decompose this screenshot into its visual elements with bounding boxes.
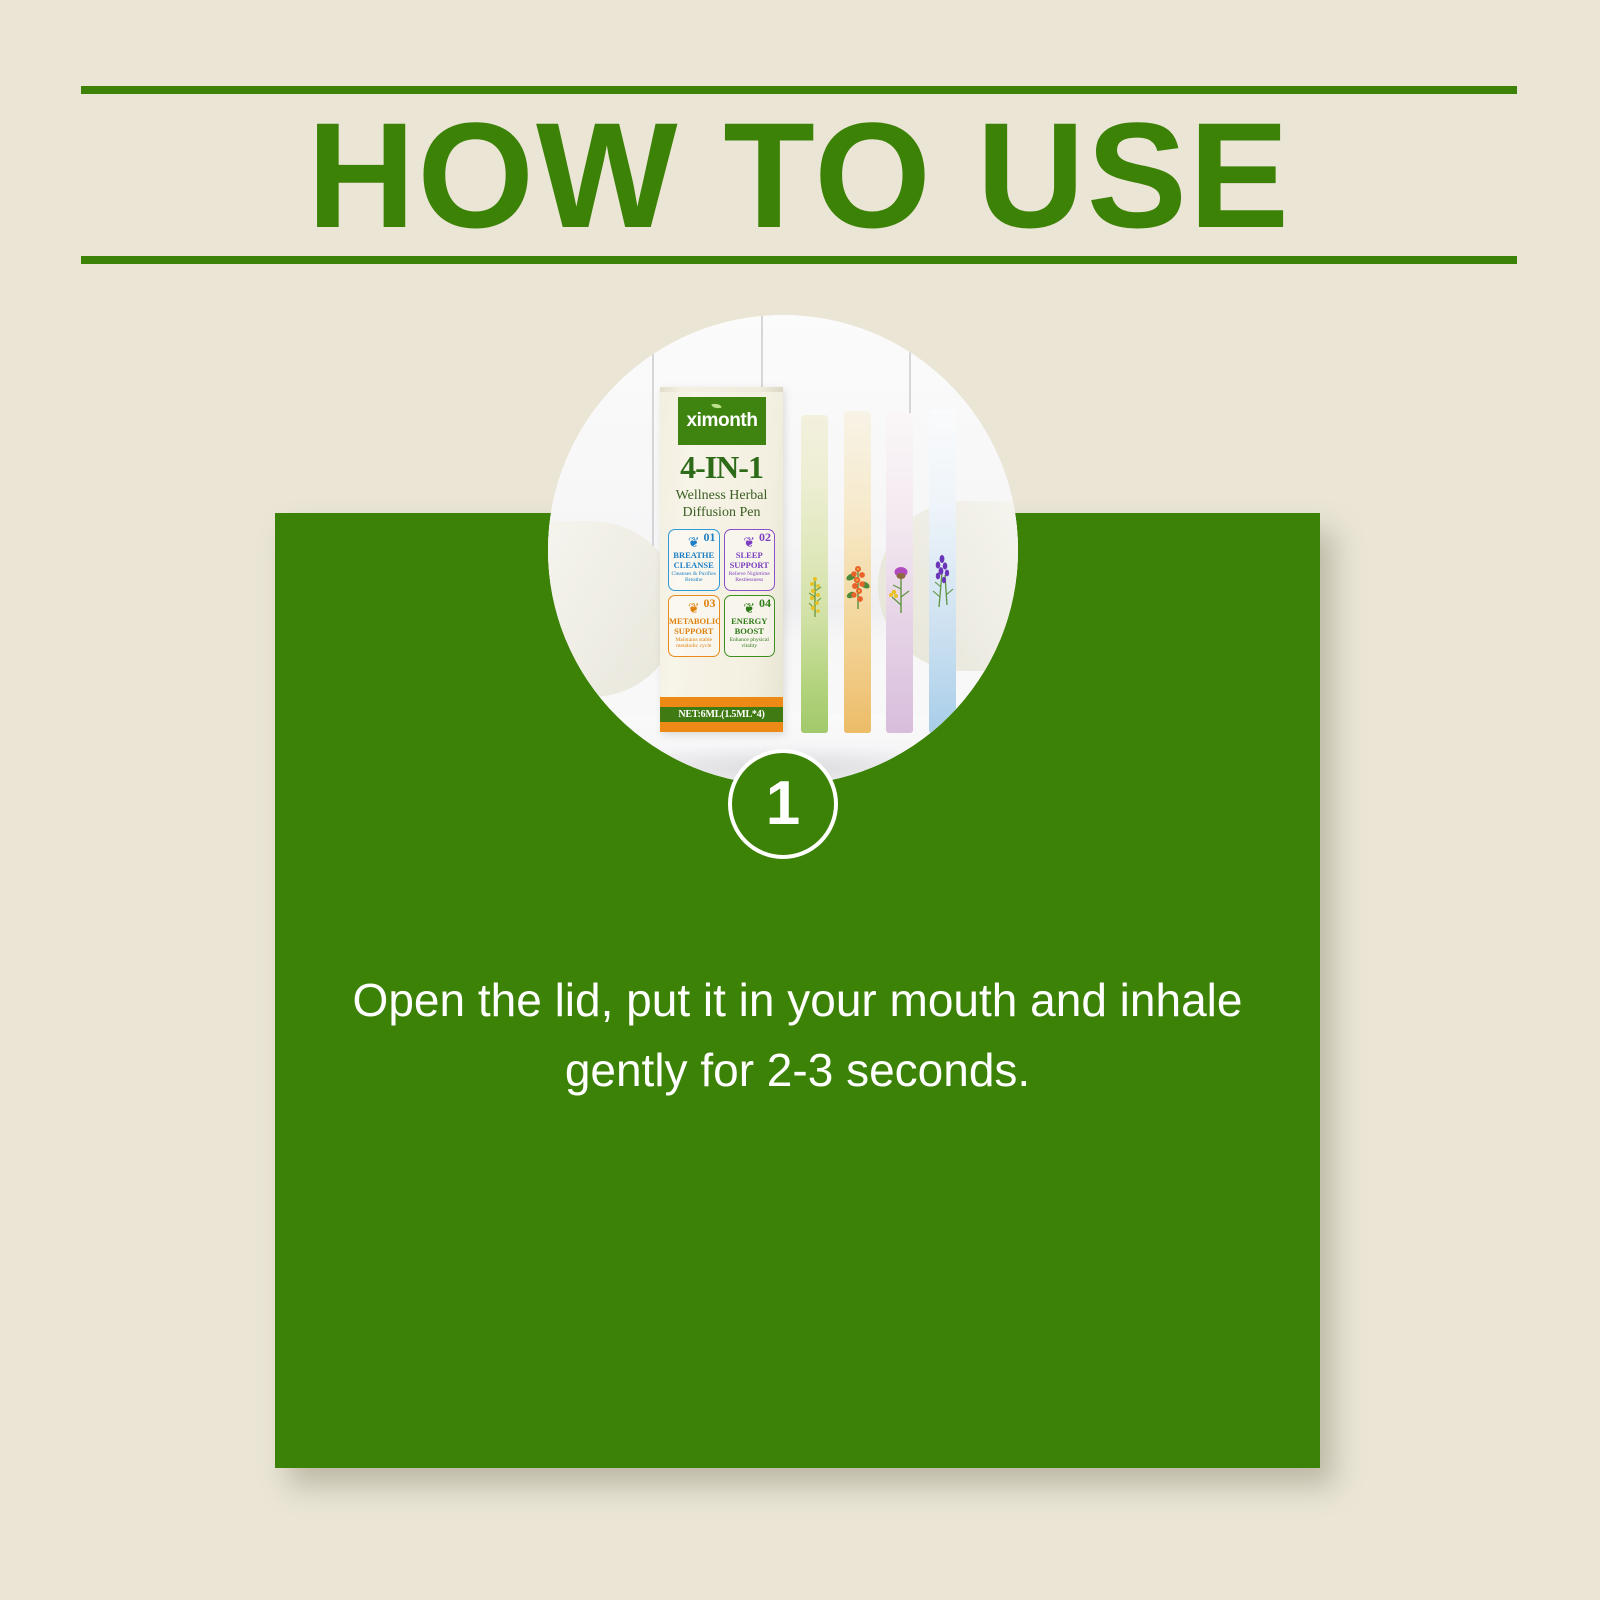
feature-title: SLEEP SUPPORT — [725, 551, 775, 570]
feature-number: 03 — [704, 596, 716, 611]
feature-card: ❦ 01 BREATHE CLEANSE Cleanses & Purifies… — [668, 529, 720, 591]
feature-number: 04 — [759, 596, 771, 611]
metabolic-icon: ❦ — [688, 601, 700, 615]
pen-pink — [886, 413, 913, 733]
product-package-box: ximonth 4-IN-1 Wellness Herbal Diffusion… — [660, 387, 783, 732]
sleep-icon: ❦ — [743, 535, 755, 549]
feature-desc: Enhance physical vitality — [725, 637, 775, 650]
flower-thistle-icon — [887, 559, 913, 615]
how-to-use-infographic: HOW TO USE — [0, 0, 1600, 1600]
page-title: HOW TO USE — [81, 94, 1517, 256]
product-photo-circle: ximonth 4-IN-1 Wellness Herbal Diffusion… — [548, 315, 1018, 785]
feature-grid: ❦ 01 BREATHE CLEANSE Cleanses & Purifies… — [668, 529, 775, 657]
orange-band-top — [660, 697, 783, 707]
step-instruction: Open the lid, put it in your mouth and i… — [275, 965, 1320, 1105]
feature-number: 02 — [759, 530, 771, 545]
title-block: HOW TO USE — [81, 86, 1517, 264]
feature-title: METABOLIC SUPPORT — [669, 617, 719, 636]
feature-title: BREATHE CLEANSE — [669, 551, 719, 570]
orange-band-bottom — [660, 722, 783, 732]
pen-blue — [929, 409, 956, 733]
pen-green — [801, 415, 828, 733]
feature-card: ❦ 04 ENERGY BOOST Enhance physical vital… — [724, 595, 776, 657]
box-top-edge — [660, 387, 783, 392]
energy-icon: ❦ — [743, 601, 755, 615]
feature-desc: Cleanses & Purifies Breathe — [669, 571, 719, 584]
brand-name: ximonth — [686, 410, 757, 431]
brand-logo: ximonth — [678, 397, 766, 445]
feature-card: ❦ 03 METABOLIC SUPPORT Maintains stable … — [668, 595, 720, 657]
step-number-badge: 1 — [728, 749, 838, 859]
breathe-icon: ❦ — [688, 535, 700, 549]
flower-lavender-icon — [930, 551, 956, 609]
box-footer-bands: NET:6ML(1.5ML*4) — [660, 697, 783, 732]
box-headline: 4-IN-1 — [660, 449, 783, 486]
pen-orange — [844, 411, 871, 733]
box-subtitle: Wellness Herbal Diffusion Pen — [660, 487, 783, 521]
product-photo: ximonth 4-IN-1 Wellness Herbal Diffusion… — [548, 315, 1018, 785]
net-content-label: NET:6ML(1.5ML*4) — [678, 709, 764, 720]
net-content-band: NET:6ML(1.5ML*4) — [660, 707, 783, 722]
step-number: 1 — [766, 773, 800, 835]
feature-card: ❦ 02 SLEEP SUPPORT Relieve Nighttime Res… — [724, 529, 776, 591]
feature-desc: Maintains stable metabolic cycle — [669, 637, 719, 650]
flower-blossom-icon — [845, 555, 871, 611]
feature-desc: Relieve Nighttime Restlessness — [725, 571, 775, 584]
flower-mullein-icon — [803, 563, 827, 619]
feature-title: ENERGY BOOST — [725, 617, 775, 636]
leaf-icon — [712, 402, 722, 410]
feature-number: 01 — [704, 530, 716, 545]
